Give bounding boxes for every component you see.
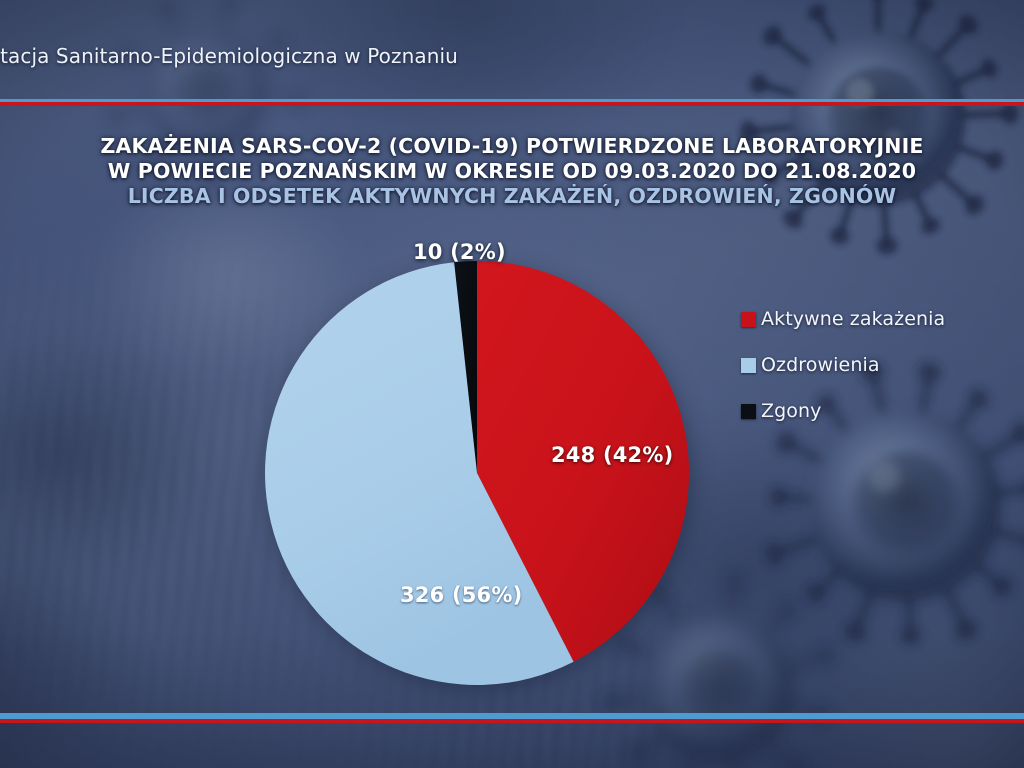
legend-item-zgony[interactable]: Zgony (741, 388, 991, 434)
legend-label-ozdrowienia: Ozdrowienia (761, 354, 880, 376)
legend-swatch-deaths-icon (741, 404, 756, 419)
legend-label-aktywne-zakazenia: Aktywne zakażenia (761, 308, 945, 330)
chart-legend: Aktywne zakażenia Ozdrowienia Zgony (741, 296, 991, 434)
slide-canvas: wa Stacja Sanitarno-Epidemiologiczna w P… (0, 0, 1024, 768)
legend-item-ozdrowienia[interactable]: Ozdrowienia (741, 342, 991, 388)
slice-label-ozdrowienia: 326 (56%) (400, 583, 522, 607)
legend-swatch-recovered-icon (741, 358, 756, 373)
slice-label-aktywne-zakazenia: 248 (42%) (551, 443, 673, 467)
slice-label-zgony: 10 (2%) (413, 240, 506, 264)
legend-item-aktywne-zakazenia[interactable]: Aktywne zakażenia (741, 296, 991, 342)
legend-swatch-active-icon (741, 312, 756, 327)
divider-red-bottom (0, 719, 1024, 723)
legend-label-zgony: Zgony (761, 400, 822, 422)
